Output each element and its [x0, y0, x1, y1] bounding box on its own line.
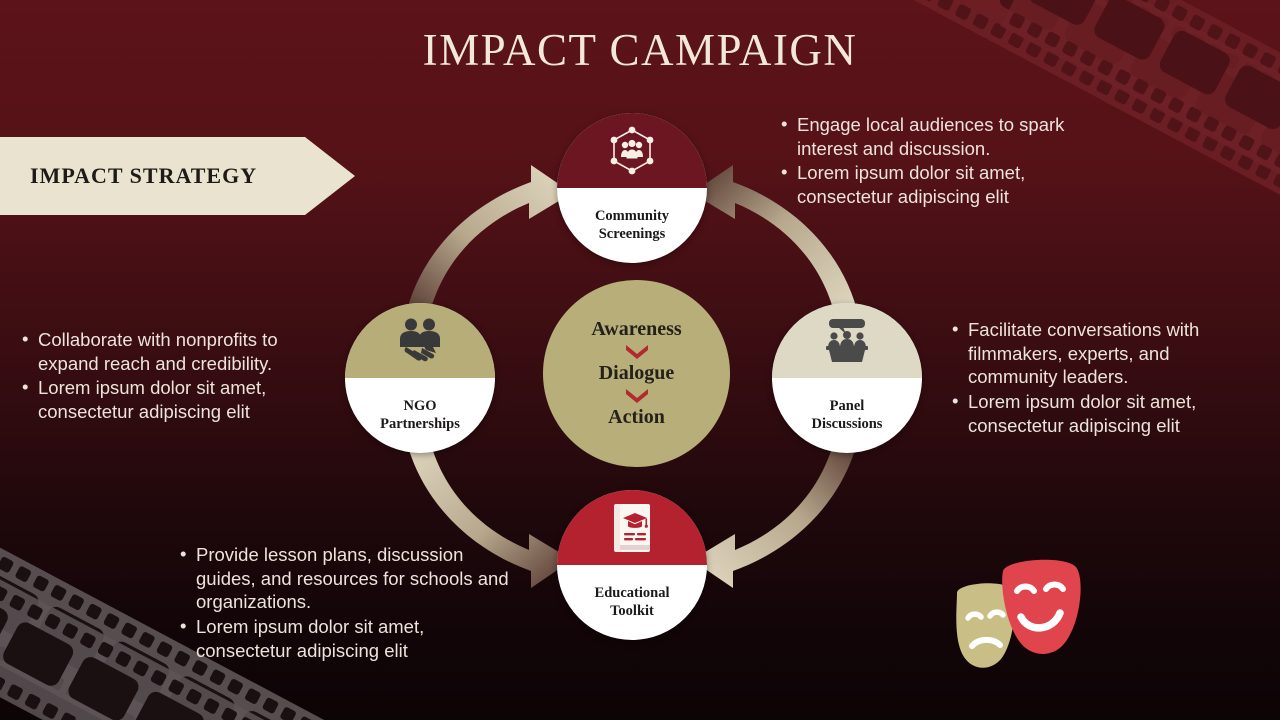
- film-perforation: [1153, 0, 1171, 13]
- film-perforation: [24, 693, 42, 711]
- node-panel-discussions[interactable]: Panel Discussions: [772, 303, 922, 453]
- text-block-educational-toolkit: Provide lesson plans, discussion guides,…: [180, 543, 515, 663]
- text-block-ngo-partnerships: Collaborate with nonprofits to expand re…: [22, 328, 302, 425]
- film-perforation: [65, 683, 83, 701]
- node-label-line1: Community: [595, 208, 669, 225]
- film-frame: [96, 638, 172, 708]
- chevron-down-icon: [624, 343, 650, 360]
- bullet-item: Lorem ipsum dolor sit amet, consectetur …: [952, 390, 1242, 437]
- book-graduation-cap-icon: [610, 502, 654, 554]
- film-perforation: [100, 702, 118, 720]
- film-frame: [31, 604, 107, 674]
- node-label: Panel Discussions: [772, 378, 922, 453]
- node-label-line1: Panel: [830, 398, 865, 415]
- center-step-1: Awareness: [591, 318, 681, 341]
- film-perforation: [83, 692, 101, 710]
- node-icon-area: [345, 303, 495, 378]
- film-frame: [161, 673, 237, 720]
- film-perforation: [8, 594, 26, 612]
- film-perforation: [226, 678, 244, 696]
- film-perforation: [61, 622, 79, 640]
- film-perforation: [1096, 78, 1114, 96]
- bullet-item: Facilitate conversations with filmmakers…: [952, 318, 1242, 389]
- film-perforation: [0, 645, 12, 663]
- film-perforation: [6, 683, 24, 701]
- film-perforation: [14, 565, 32, 583]
- film-frame: [0, 569, 42, 639]
- film-perforation: [118, 711, 136, 720]
- cycle-center-circle: Awareness Dialogue Action: [543, 280, 730, 467]
- bullet-item: Provide lesson plans, discussion guides,…: [180, 543, 515, 614]
- film-perforation: [937, 0, 955, 12]
- film-perforation: [1220, 125, 1238, 143]
- bullet-item: Lorem ipsum dolor sit amet, consectetur …: [180, 615, 515, 662]
- center-step-3: Action: [608, 406, 665, 429]
- film-frame: [131, 689, 207, 720]
- film-perforation: [59, 712, 77, 720]
- film-perforation: [954, 3, 972, 21]
- film-perforation: [138, 631, 156, 649]
- film-perforation: [1184, 125, 1202, 143]
- film-perforation: [42, 702, 60, 720]
- film-perforation: [103, 612, 121, 630]
- film-perforation: [156, 640, 174, 658]
- film-perforation: [209, 669, 227, 687]
- impact-strategy-banner: IMPACT STRATEGY: [0, 137, 355, 215]
- slide-canvas: IMPACT CAMPAIGN IMPACT STRATEGY: [0, 0, 1280, 720]
- film-perforation: [1201, 135, 1219, 153]
- bullet-item: Engage local audiences to spark interest…: [781, 113, 1071, 160]
- film-perforation: [50, 584, 68, 602]
- film-perforation: [85, 603, 103, 621]
- film-perforation: [244, 687, 262, 705]
- node-label-line2: Discussions: [812, 416, 883, 433]
- film-perforation: [185, 688, 203, 706]
- node-label-line2: Partnerships: [380, 416, 460, 433]
- film-perforation: [1117, 0, 1135, 13]
- film-perforation: [12, 655, 30, 673]
- film-perforation: [67, 593, 85, 611]
- film-perforation: [1238, 134, 1256, 152]
- film-perforation: [279, 706, 297, 720]
- film-perforation: [1131, 97, 1149, 115]
- film-perforation: [150, 669, 168, 687]
- film-perforation: [44, 613, 62, 631]
- film-perforation: [1276, 80, 1280, 98]
- center-step-2: Dialogue: [599, 362, 675, 385]
- film-perforation: [1273, 153, 1280, 171]
- film-perforation: [1219, 144, 1237, 162]
- node-icon-area: [772, 303, 922, 378]
- film-perforation: [1150, 87, 1168, 105]
- film-perforation: [1185, 106, 1203, 124]
- film-perforation: [120, 622, 138, 640]
- film-perforation: [26, 603, 44, 621]
- film-perforation: [919, 0, 937, 2]
- arrow-panel-to-education: [692, 433, 859, 588]
- film-perforation: [203, 697, 221, 715]
- node-label-line1: NGO: [403, 398, 436, 415]
- film-perforation: [1256, 143, 1274, 161]
- film-perforation: [1099, 0, 1117, 4]
- panel-discussion-icon: [822, 318, 872, 364]
- film-perforation: [1167, 96, 1185, 114]
- film-perforation: [1203, 115, 1221, 133]
- film-perforation: [1148, 107, 1166, 125]
- film-perforation: [220, 707, 238, 720]
- node-community-screenings[interactable]: Community Screenings: [557, 113, 707, 263]
- node-icon-area: [557, 490, 707, 565]
- film-perforation: [1113, 88, 1131, 106]
- bullet-item: Collaborate with nonprofits to expand re…: [22, 328, 302, 375]
- film-perforation: [1132, 78, 1150, 96]
- film-perforation: [1237, 154, 1255, 172]
- theater-masks-icon: [945, 545, 1095, 675]
- node-label: Educational Toolkit: [557, 565, 707, 640]
- handshake-icon: [392, 317, 448, 365]
- film-perforation: [79, 632, 97, 650]
- node-label-line2: Screenings: [599, 226, 666, 243]
- film-perforation: [32, 575, 50, 593]
- film-perforation: [1272, 172, 1280, 190]
- film-frame: [227, 708, 303, 720]
- film-perforation: [30, 664, 48, 682]
- bullet-item: Lorem ipsum dolor sit amet, consectetur …: [781, 161, 1071, 208]
- film-perforation: [97, 641, 115, 659]
- node-ngo-partnerships[interactable]: NGO Partnerships: [345, 303, 495, 453]
- node-icon-area: [557, 113, 707, 188]
- film-perforation: [1166, 116, 1184, 134]
- film-perforation: [132, 660, 150, 678]
- film-perforation: [0, 556, 14, 574]
- bullet-item: Lorem ipsum dolor sit amet, consectetur …: [22, 376, 302, 423]
- film-frame: [0, 619, 76, 689]
- text-block-community-screenings: Engage local audiences to spark interest…: [781, 113, 1071, 210]
- film-perforation: [0, 585, 8, 603]
- film-perforation: [1134, 5, 1152, 23]
- film-perforation: [297, 716, 315, 720]
- film-perforation: [48, 674, 66, 692]
- node-label: Community Screenings: [557, 188, 707, 263]
- film-frame: [1258, 102, 1280, 172]
- film-perforation: [238, 716, 256, 720]
- film-perforation: [1136, 0, 1154, 3]
- film-perforation: [1254, 163, 1272, 181]
- node-educational-toolkit[interactable]: Educational Toolkit: [557, 490, 707, 640]
- film-frame: [0, 584, 11, 654]
- banner-label: IMPACT STRATEGY: [30, 163, 257, 189]
- arrow-ngo-to-community: [405, 165, 572, 320]
- node-label-line1: Educational: [595, 585, 670, 602]
- film-perforation: [1171, 4, 1189, 22]
- community-network-icon: [606, 125, 658, 177]
- film-perforation: [167, 678, 185, 696]
- chevron-down-icon: [624, 387, 650, 404]
- film-frame: [65, 654, 141, 720]
- film-perforation: [262, 697, 280, 715]
- node-label: NGO Partnerships: [345, 378, 495, 453]
- text-block-panel-discussions: Facilitate conversations with filmmakers…: [952, 318, 1242, 438]
- page-title: IMPACT CAMPAIGN: [0, 24, 1280, 76]
- film-frame: [1193, 67, 1269, 137]
- node-label-line2: Toolkit: [610, 603, 654, 620]
- film-perforation: [114, 650, 132, 668]
- film-perforation: [0, 674, 6, 692]
